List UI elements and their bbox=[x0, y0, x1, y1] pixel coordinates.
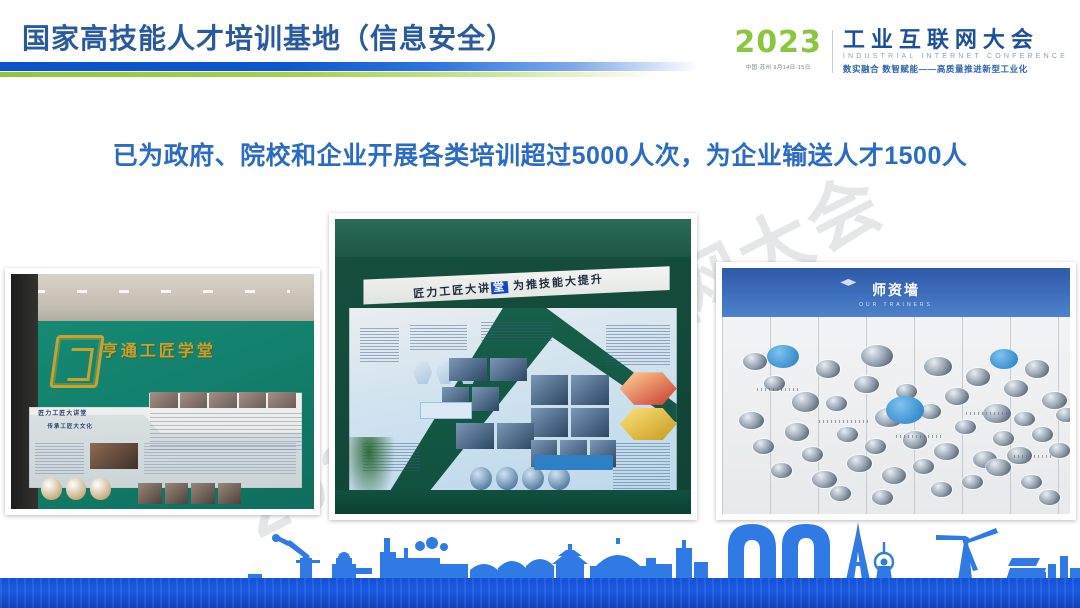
callout-box bbox=[420, 402, 472, 419]
board-thumbnail-strip bbox=[150, 392, 295, 408]
conference-logo: 2023 中国·苏州 9月14日-15日 工业互联网大会 INDUSTRIAL … bbox=[734, 28, 1068, 75]
conference-name-cn: 工业互联网大会 bbox=[843, 28, 1068, 51]
board-medal-row bbox=[41, 478, 120, 499]
trainer-portrait-network bbox=[722, 317, 1070, 514]
photo-da-jiangtang: 匠力工匠大讲堂 为推技能大提升 bbox=[329, 213, 697, 520]
wall-title: 亨通工匠学堂 bbox=[102, 337, 216, 361]
panel-text-block bbox=[606, 325, 670, 366]
sea-band bbox=[0, 578, 1080, 608]
conference-slogan: 数实融合 数智赋能——高质量推进新型工业化 bbox=[843, 63, 1068, 75]
photo-gongjiang-xuetang: 亨通工匠学堂 匠力工匠大讲堂 传承工匠大文化 bbox=[5, 268, 320, 515]
brand-hexagon-icon bbox=[50, 335, 106, 388]
header-divider-green bbox=[0, 72, 660, 77]
conference-year: 2023 bbox=[734, 28, 822, 58]
board-text-columns bbox=[144, 443, 296, 476]
panel-photo-row bbox=[531, 408, 609, 438]
slide-header: 国家高技能人才培训基地（信息安全） 2023 中国·苏州 9月14日-15日 工… bbox=[0, 0, 1080, 92]
floor bbox=[335, 490, 691, 514]
panel-text-block bbox=[360, 328, 399, 363]
board-group-photo bbox=[90, 443, 138, 469]
board-photo-row bbox=[138, 483, 241, 504]
panel-text-block bbox=[613, 443, 670, 490]
slide-root: 国家高技能人才培训基地（信息安全） 2023 中国·苏州 9月14日-15日 工… bbox=[0, 0, 1080, 608]
conference-name-en: INDUSTRIAL INTERNET CONFERENCE bbox=[843, 53, 1068, 60]
panel-photo-row bbox=[449, 358, 527, 382]
conference-year-block: 2023 中国·苏州 9月14日-15日 bbox=[734, 28, 832, 71]
panel-text-block bbox=[481, 322, 552, 343]
panel-photo-row bbox=[456, 423, 534, 450]
board-subheading: 传承工匠大文化 bbox=[47, 422, 93, 430]
panel-text-block bbox=[410, 325, 467, 352]
ceiling bbox=[335, 219, 691, 257]
board-paragraph bbox=[35, 443, 83, 476]
photo-teacher-wall: 师资墙 OUR TRAINERS bbox=[716, 262, 1076, 520]
wall-subtitle: OUR TRAINERS bbox=[859, 302, 933, 308]
headline-text: 已为政府、院校和企业开展各类培训超过5000人次，为企业输送人才1500人 bbox=[0, 136, 1080, 172]
city-skyline-icon bbox=[0, 518, 1080, 580]
banner-text-highlight: 堂 bbox=[491, 281, 509, 294]
logo-divider bbox=[832, 30, 833, 73]
header-divider-blue bbox=[0, 62, 700, 71]
footer-decoration bbox=[0, 516, 1080, 608]
conference-date: 中国·苏州 9月14日-15日 bbox=[746, 63, 811, 71]
panel-photo-row bbox=[531, 375, 609, 405]
ceiling bbox=[11, 274, 314, 326]
conference-name-block: 工业互联网大会 INDUSTRIAL INTERNET CONFERENCE 数… bbox=[843, 28, 1068, 75]
page-title: 国家高技能人才培训基地（信息安全） bbox=[22, 17, 515, 57]
blue-caption-bar bbox=[534, 455, 612, 470]
wall-title: 师资墙 bbox=[872, 280, 920, 300]
circle-photo-row bbox=[470, 467, 570, 491]
board-heading: 匠力工匠大讲堂 bbox=[38, 408, 87, 417]
